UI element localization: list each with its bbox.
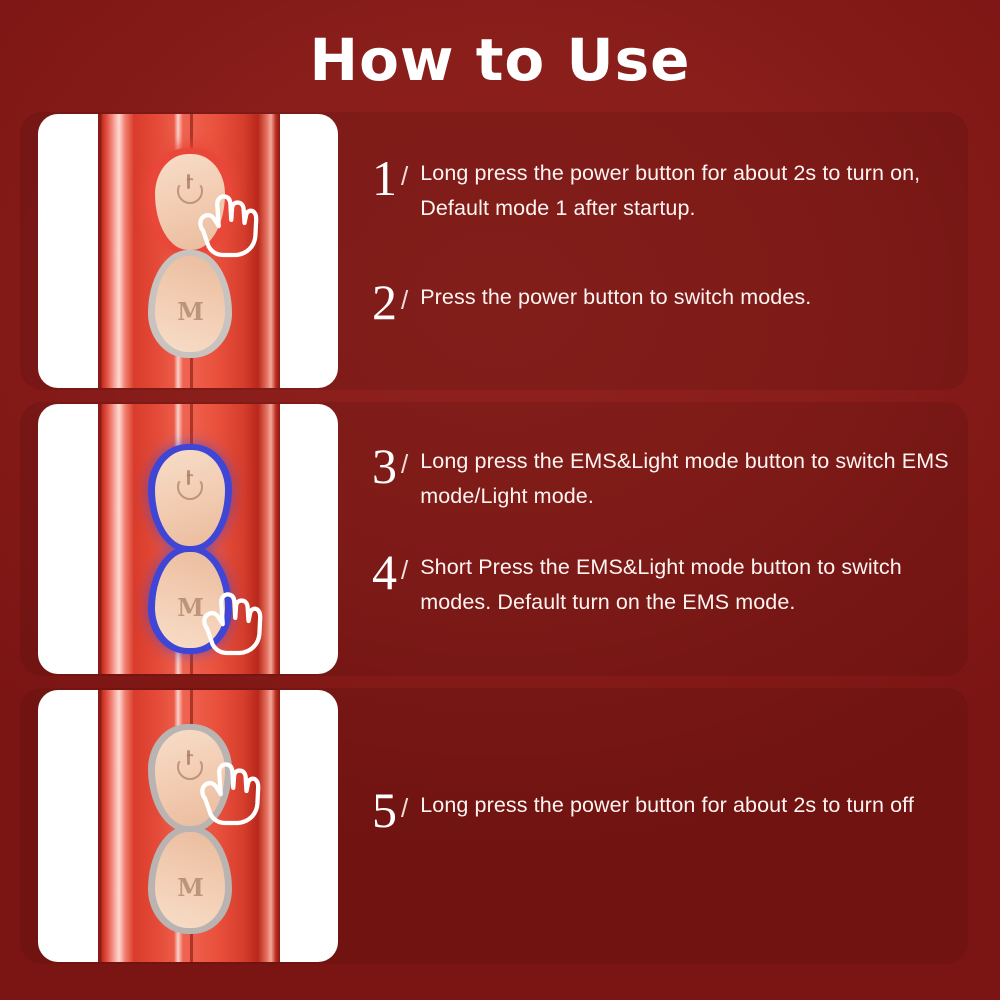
button-pad: M — [148, 148, 232, 358]
steps-list: 5 / Long press the power button for abou… — [372, 688, 950, 964]
button-pad: M — [148, 444, 232, 654]
step-text: Short Press the EMS&Light mode button to… — [420, 550, 950, 620]
instruction-row: M 5 / Long press the power button for ab… — [20, 688, 968, 964]
step-item: 2 / Press the power button to switch mod… — [372, 280, 811, 324]
step-item: 4 / Short Press the EMS&Light mode butto… — [372, 550, 950, 620]
step-number: 4 — [372, 550, 397, 594]
step-number: 3 — [372, 444, 397, 488]
step-separator: / — [401, 788, 408, 828]
step-number: 1 — [372, 156, 397, 200]
mode-m-icon: M — [177, 876, 203, 900]
step-item: 1 / Long press the power button for abou… — [372, 156, 950, 226]
step-item: 3 / Long press the EMS&Light mode button… — [372, 444, 950, 514]
step-number: 5 — [372, 788, 397, 832]
steps-list: 1 / Long press the power button for abou… — [372, 112, 950, 390]
step-separator: / — [401, 156, 408, 196]
mode-m-icon: M — [177, 300, 203, 324]
instruction-row: M 3 / Long press the EMS&Light mode butt… — [20, 402, 968, 676]
page-title: How to Use — [0, 28, 1000, 92]
step-text: Long press the power button for about 2s… — [420, 156, 950, 226]
step-text: Press the power button to switch modes. — [420, 280, 811, 315]
product-photo-panel: M — [38, 114, 338, 388]
button-pad: M — [148, 724, 232, 934]
step-separator: / — [401, 280, 408, 320]
product-photo-panel: M — [38, 690, 338, 962]
step-text: Long press the EMS&Light mode button to … — [420, 444, 950, 514]
instruction-row: M 1 / Long press the power button for ab… — [20, 112, 968, 390]
step-item: 5 / Long press the power button for abou… — [372, 788, 914, 832]
mode-m-icon: M — [177, 596, 203, 620]
power-icon — [177, 470, 203, 496]
power-icon — [177, 750, 203, 776]
infographic-page: How to Use M — [0, 0, 1000, 1000]
product-photo-panel: M — [38, 404, 338, 674]
steps-list: 3 / Long press the EMS&Light mode button… — [372, 402, 950, 676]
step-separator: / — [401, 444, 408, 484]
step-separator: / — [401, 550, 408, 590]
power-icon — [177, 174, 203, 200]
step-text: Long press the power button for about 2s… — [420, 788, 914, 823]
step-number: 2 — [372, 280, 397, 324]
